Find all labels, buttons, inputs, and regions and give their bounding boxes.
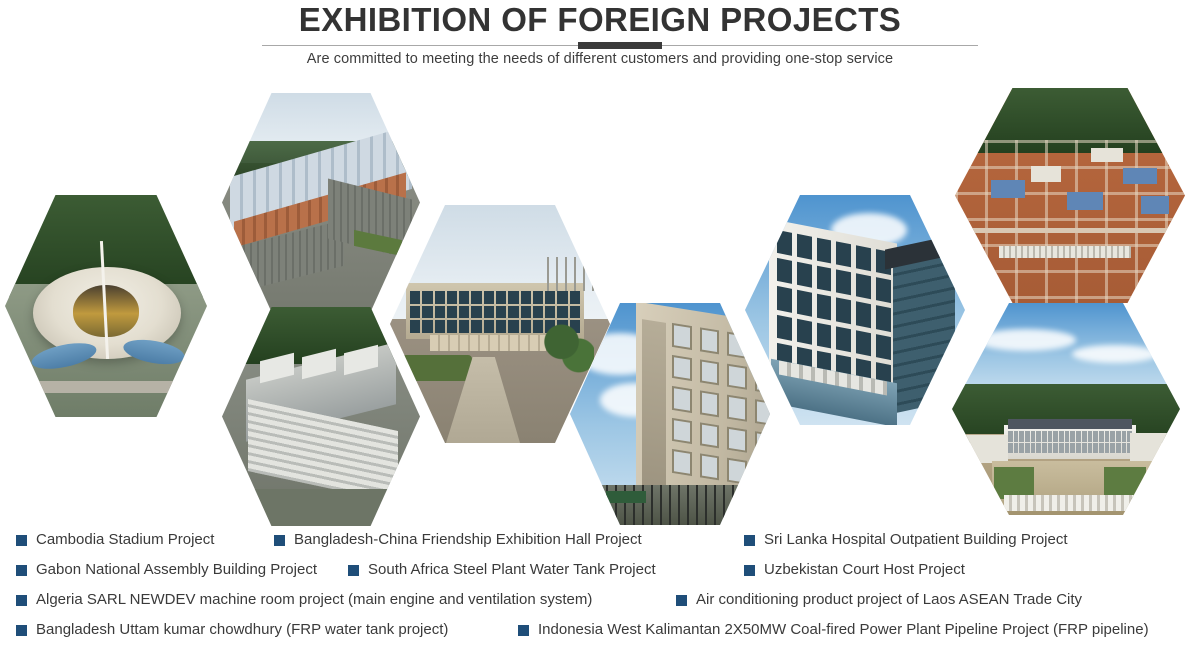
- hex-photo-sri-lanka-hospital[interactable]: [745, 195, 965, 425]
- legend-item-bangladesh-uttam-kumar[interactable]: Bangladesh Uttam kumar chowdhury (FRP wa…: [16, 615, 448, 645]
- plant-blue-roof-1: [991, 180, 1025, 198]
- cloud: [1072, 345, 1158, 363]
- trade-city-wing-left: [966, 435, 1008, 463]
- legend-row: Bangladesh Uttam kumar chowdhury (FRP wa…: [0, 615, 1200, 645]
- plant-conveyor: [999, 246, 1131, 258]
- hex-photo-bangladesh-china-hall[interactable]: [222, 93, 420, 312]
- court-sign: [606, 491, 646, 503]
- page-title: EXHIBITION OF FOREIGN PROJECTS: [0, 2, 1200, 38]
- stadium-road: [5, 381, 207, 393]
- plant-white-roof-2: [1091, 148, 1123, 162]
- hex-photo-indonesia-power-plant[interactable]: [955, 88, 1185, 303]
- hexagon-photo-collage: [0, 85, 1200, 520]
- plant-site-grid: [955, 140, 1185, 303]
- legend-label: Bangladesh-China Friendship Exhibition H…: [294, 530, 642, 550]
- legend-item-sri-lanka-hospital[interactable]: Sri Lanka Hospital Outpatient Building P…: [744, 525, 1068, 555]
- bullet-square-icon: [744, 565, 755, 576]
- legend-item-algeria-sarl-newdev[interactable]: Algeria SARL NEWDEV machine room project…: [16, 585, 592, 615]
- court-pilaster-bay: [642, 319, 666, 499]
- legend-label: South Africa Steel Plant Water Tank Proj…: [368, 560, 656, 580]
- legend-item-laos-asean-trade-city[interactable]: Air conditioning product project of Laos…: [676, 585, 1082, 615]
- trade-city-wing-right: [1130, 433, 1172, 461]
- header: EXHIBITION OF FOREIGN PROJECTS Are commi…: [0, 0, 1200, 85]
- bullet-square-icon: [348, 565, 359, 576]
- title-divider: [262, 42, 978, 50]
- assembly-palms: [540, 317, 594, 379]
- divider-accent-block: [578, 42, 662, 49]
- plant-blue-roof-3: [1123, 168, 1157, 184]
- bullet-square-icon: [744, 535, 755, 546]
- plant-white-roof-1: [1031, 166, 1061, 182]
- court-window-grid: [672, 323, 770, 489]
- hex-photo-laos-asean-trade-city[interactable]: [952, 303, 1180, 515]
- hex-photo-cambodia-stadium[interactable]: [5, 195, 207, 417]
- cloud: [976, 329, 1076, 351]
- project-legend: Cambodia Stadium Project Bangladesh-Chin…: [0, 520, 1200, 650]
- legend-label: Algeria SARL NEWDEV machine room project…: [36, 590, 592, 610]
- plant-blue-roof-2: [1067, 192, 1103, 210]
- legend-row: Gabon National Assembly Building Project…: [0, 555, 1200, 585]
- bullet-square-icon: [274, 535, 285, 546]
- hospital-glass-wing: [893, 250, 955, 413]
- bullet-square-icon: [16, 565, 27, 576]
- legend-item-gabon-assembly[interactable]: Gabon National Assembly Building Project: [16, 555, 317, 585]
- legend-item-indonesia-power-plant[interactable]: Indonesia West Kalimantan 2X50MW Coal-fi…: [518, 615, 1149, 645]
- legend-item-south-africa-plant[interactable]: South Africa Steel Plant Water Tank Proj…: [348, 555, 656, 585]
- legend-row: Algeria SARL NEWDEV machine room project…: [0, 585, 1200, 615]
- legend-row: Cambodia Stadium Project Bangladesh-Chin…: [0, 525, 1200, 555]
- trade-city-window-grid: [1008, 431, 1132, 453]
- bullet-square-icon: [676, 595, 687, 606]
- legend-label: Sri Lanka Hospital Outpatient Building P…: [764, 530, 1068, 550]
- plant-access-road: [955, 228, 1185, 233]
- legend-label: Cambodia Stadium Project: [36, 530, 214, 550]
- legend-label: Air conditioning product project of Laos…: [696, 590, 1082, 610]
- legend-label: Bangladesh Uttam kumar chowdhury (FRP wa…: [36, 620, 448, 640]
- legend-item-cambodia-stadium[interactable]: Cambodia Stadium Project: [16, 525, 214, 555]
- poster-root: EXHIBITION OF FOREIGN PROJECTS Are commi…: [0, 0, 1200, 650]
- bullet-square-icon: [16, 625, 27, 636]
- page-subtitle: Are committed to meeting the needs of di…: [0, 51, 1200, 67]
- legend-item-bangladesh-china-hall[interactable]: Bangladesh-China Friendship Exhibition H…: [274, 525, 642, 555]
- court-fence: [570, 485, 770, 525]
- legend-label: Indonesia West Kalimantan 2X50MW Coal-fi…: [538, 620, 1149, 640]
- plant-blue-roof-4: [1141, 196, 1169, 214]
- legend-label: Gabon National Assembly Building Project: [36, 560, 317, 580]
- bullet-square-icon: [16, 535, 27, 546]
- hex-photo-south-africa-plant[interactable]: [222, 307, 420, 526]
- bullet-square-icon: [518, 625, 529, 636]
- legend-item-uzbekistan-court[interactable]: Uzbekistan Court Host Project: [744, 555, 965, 585]
- assembly-flagpoles: [540, 257, 598, 291]
- trade-city-roof: [1008, 419, 1132, 429]
- trade-city-gate: [1004, 495, 1140, 511]
- legend-label: Uzbekistan Court Host Project: [764, 560, 965, 580]
- assembly-lawn-left: [402, 355, 472, 381]
- bullet-square-icon: [16, 595, 27, 606]
- assembly-canopy: [430, 335, 546, 351]
